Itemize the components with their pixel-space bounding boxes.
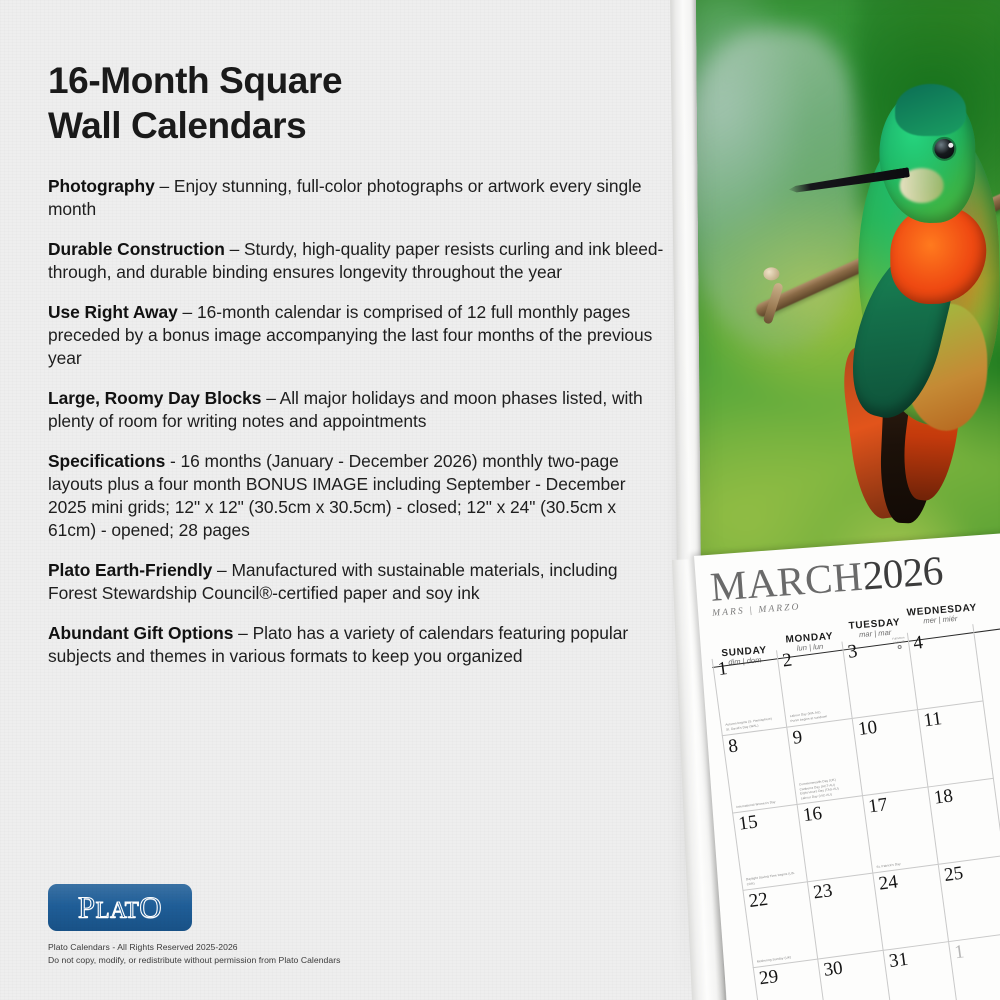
calendar-day-number: 2 — [781, 644, 840, 670]
calendar-day-number: 4 — [912, 627, 971, 653]
calendar-photo-page — [696, 0, 1000, 572]
calendar-day-number: 18 — [933, 781, 992, 807]
calendar-day-cell[interactable]: 3Full Moon11:38 UT — [842, 633, 918, 719]
feature-label: Use Right Away — [48, 302, 178, 322]
calendar-day-number: 16 — [802, 799, 861, 825]
feature-use-right-away: Use Right Away – 16-month calendar is co… — [48, 301, 668, 370]
calendar-day-cell[interactable]: 18 — [928, 779, 1000, 865]
calendar-day-number: 11 — [922, 704, 981, 730]
moon-phase-icon: Full Moon11:38 UT — [892, 636, 906, 650]
feature-specifications: Specifications - 16 months (January - De… — [48, 450, 668, 542]
calendar-day-cell[interactable]: 24 — [873, 865, 949, 951]
calendar-day-number: 31 — [888, 945, 947, 971]
calendar-date-grid: 1Autumn begins (S. Hemisphere)St. David'… — [712, 611, 1000, 1000]
calendar-day-number: 23 — [812, 876, 871, 902]
feature-label: Specifications — [48, 451, 165, 471]
calendar-day-number: 8 — [727, 730, 785, 756]
feature-label: Durable Construction — [48, 239, 225, 259]
calendar-day-number: 22 — [748, 885, 806, 911]
calendar-day-number: 17 — [867, 790, 926, 816]
calendar-day-number: 25 — [943, 859, 1000, 885]
hummingbird — [696, 0, 1000, 572]
calendar-day-cell[interactable]: 11 — [918, 701, 994, 787]
page-title: 16-Month Square Wall Calendars — [48, 58, 608, 148]
calendar-day-number: 1 — [717, 653, 775, 679]
calendar-day-number: 10 — [857, 713, 916, 739]
calendar-day-number: 1 — [953, 936, 1000, 962]
feature-label: Large, Roomy Day Blocks — [48, 388, 261, 408]
calendar-day-number: 15 — [737, 808, 795, 834]
calendar-month: MARCH — [709, 553, 865, 610]
feature-separator: - — [165, 451, 180, 471]
feature-separator: – — [225, 239, 244, 259]
feature-durable-construction: Durable Construction – Sturdy, high-qual… — [48, 238, 668, 284]
feature-label: Plato Earth-Friendly — [48, 560, 212, 580]
calendar-day-number: 24 — [878, 867, 937, 893]
calendar-day-cell[interactable]: 10 — [853, 710, 929, 796]
calendar-day-note: Commonwealth Day (UK)Canberra Day (ACT-A… — [799, 775, 859, 800]
feature-day-blocks: Large, Roomy Day Blocks – All major holi… — [48, 387, 668, 433]
feature-separator: – — [261, 388, 279, 408]
calendar-day-cell[interactable]: 4 — [908, 624, 984, 710]
feature-gift-options: Abundant Gift Options – Plato has a vari… — [48, 622, 668, 668]
calendar-day-cell[interactable]: 25 — [939, 856, 1000, 942]
calendar-day-cell[interactable]: 22Mothering Sunday (UK) — [743, 882, 819, 968]
title-line-2: Wall Calendars — [48, 103, 608, 148]
calendar-grid-page: MARCH2026 MARS | MARZO SUNDAY dim | dom … — [694, 531, 1000, 1000]
feature-label: Abundant Gift Options — [48, 623, 233, 643]
feature-separator: – — [233, 623, 252, 643]
product-feature-card: 16-Month Square Wall Calendars Photograp… — [0, 0, 1000, 1000]
feature-photography: Photography – Enjoy stunning, full-color… — [48, 175, 668, 221]
title-line-1: 16-Month Square — [48, 58, 608, 103]
calendar-day-cell[interactable]: 17St. Patrick's Day — [863, 787, 939, 873]
calendar-day-number: 9 — [792, 721, 851, 747]
calendar-day-cell[interactable]: 2Labour Day (WA-AU)Purim begins at sundo… — [777, 642, 853, 728]
calendar-day-number: 30 — [823, 953, 882, 979]
calendar-day-cell[interactable]: 23 — [808, 873, 884, 959]
feature-label: Photography — [48, 176, 155, 196]
feature-earth-friendly: Plato Earth-Friendly – Manufactured with… — [48, 559, 668, 605]
calendar-day-number: 29 — [758, 962, 816, 988]
feature-separator: – — [178, 302, 197, 322]
calendar-year: 2026 — [861, 547, 944, 599]
product-info-panel: 16-Month Square Wall Calendars Photograp… — [0, 0, 690, 1000]
calendar-day-cell[interactable]: 9Commonwealth Day (UK)Canberra Day (ACT-… — [787, 719, 863, 805]
calendar-day-cell[interactable]: 16 — [798, 796, 874, 882]
calendar-day-cell[interactable]: 1Autumn begins (S. Hemisphere)St. David'… — [712, 650, 788, 736]
feature-separator: – — [212, 560, 231, 580]
calendar-day-cell[interactable]: 15Daylight Saving Time begins (US-CAN) — [732, 805, 808, 891]
hummingbird-crown — [895, 84, 966, 137]
calendar-product-photo: MARCH2026 MARS | MARZO SUNDAY dim | dom … — [670, 0, 1000, 1000]
feature-separator: – — [155, 176, 174, 196]
calendar-day-cell[interactable]: 8International Women's Day — [722, 728, 798, 814]
